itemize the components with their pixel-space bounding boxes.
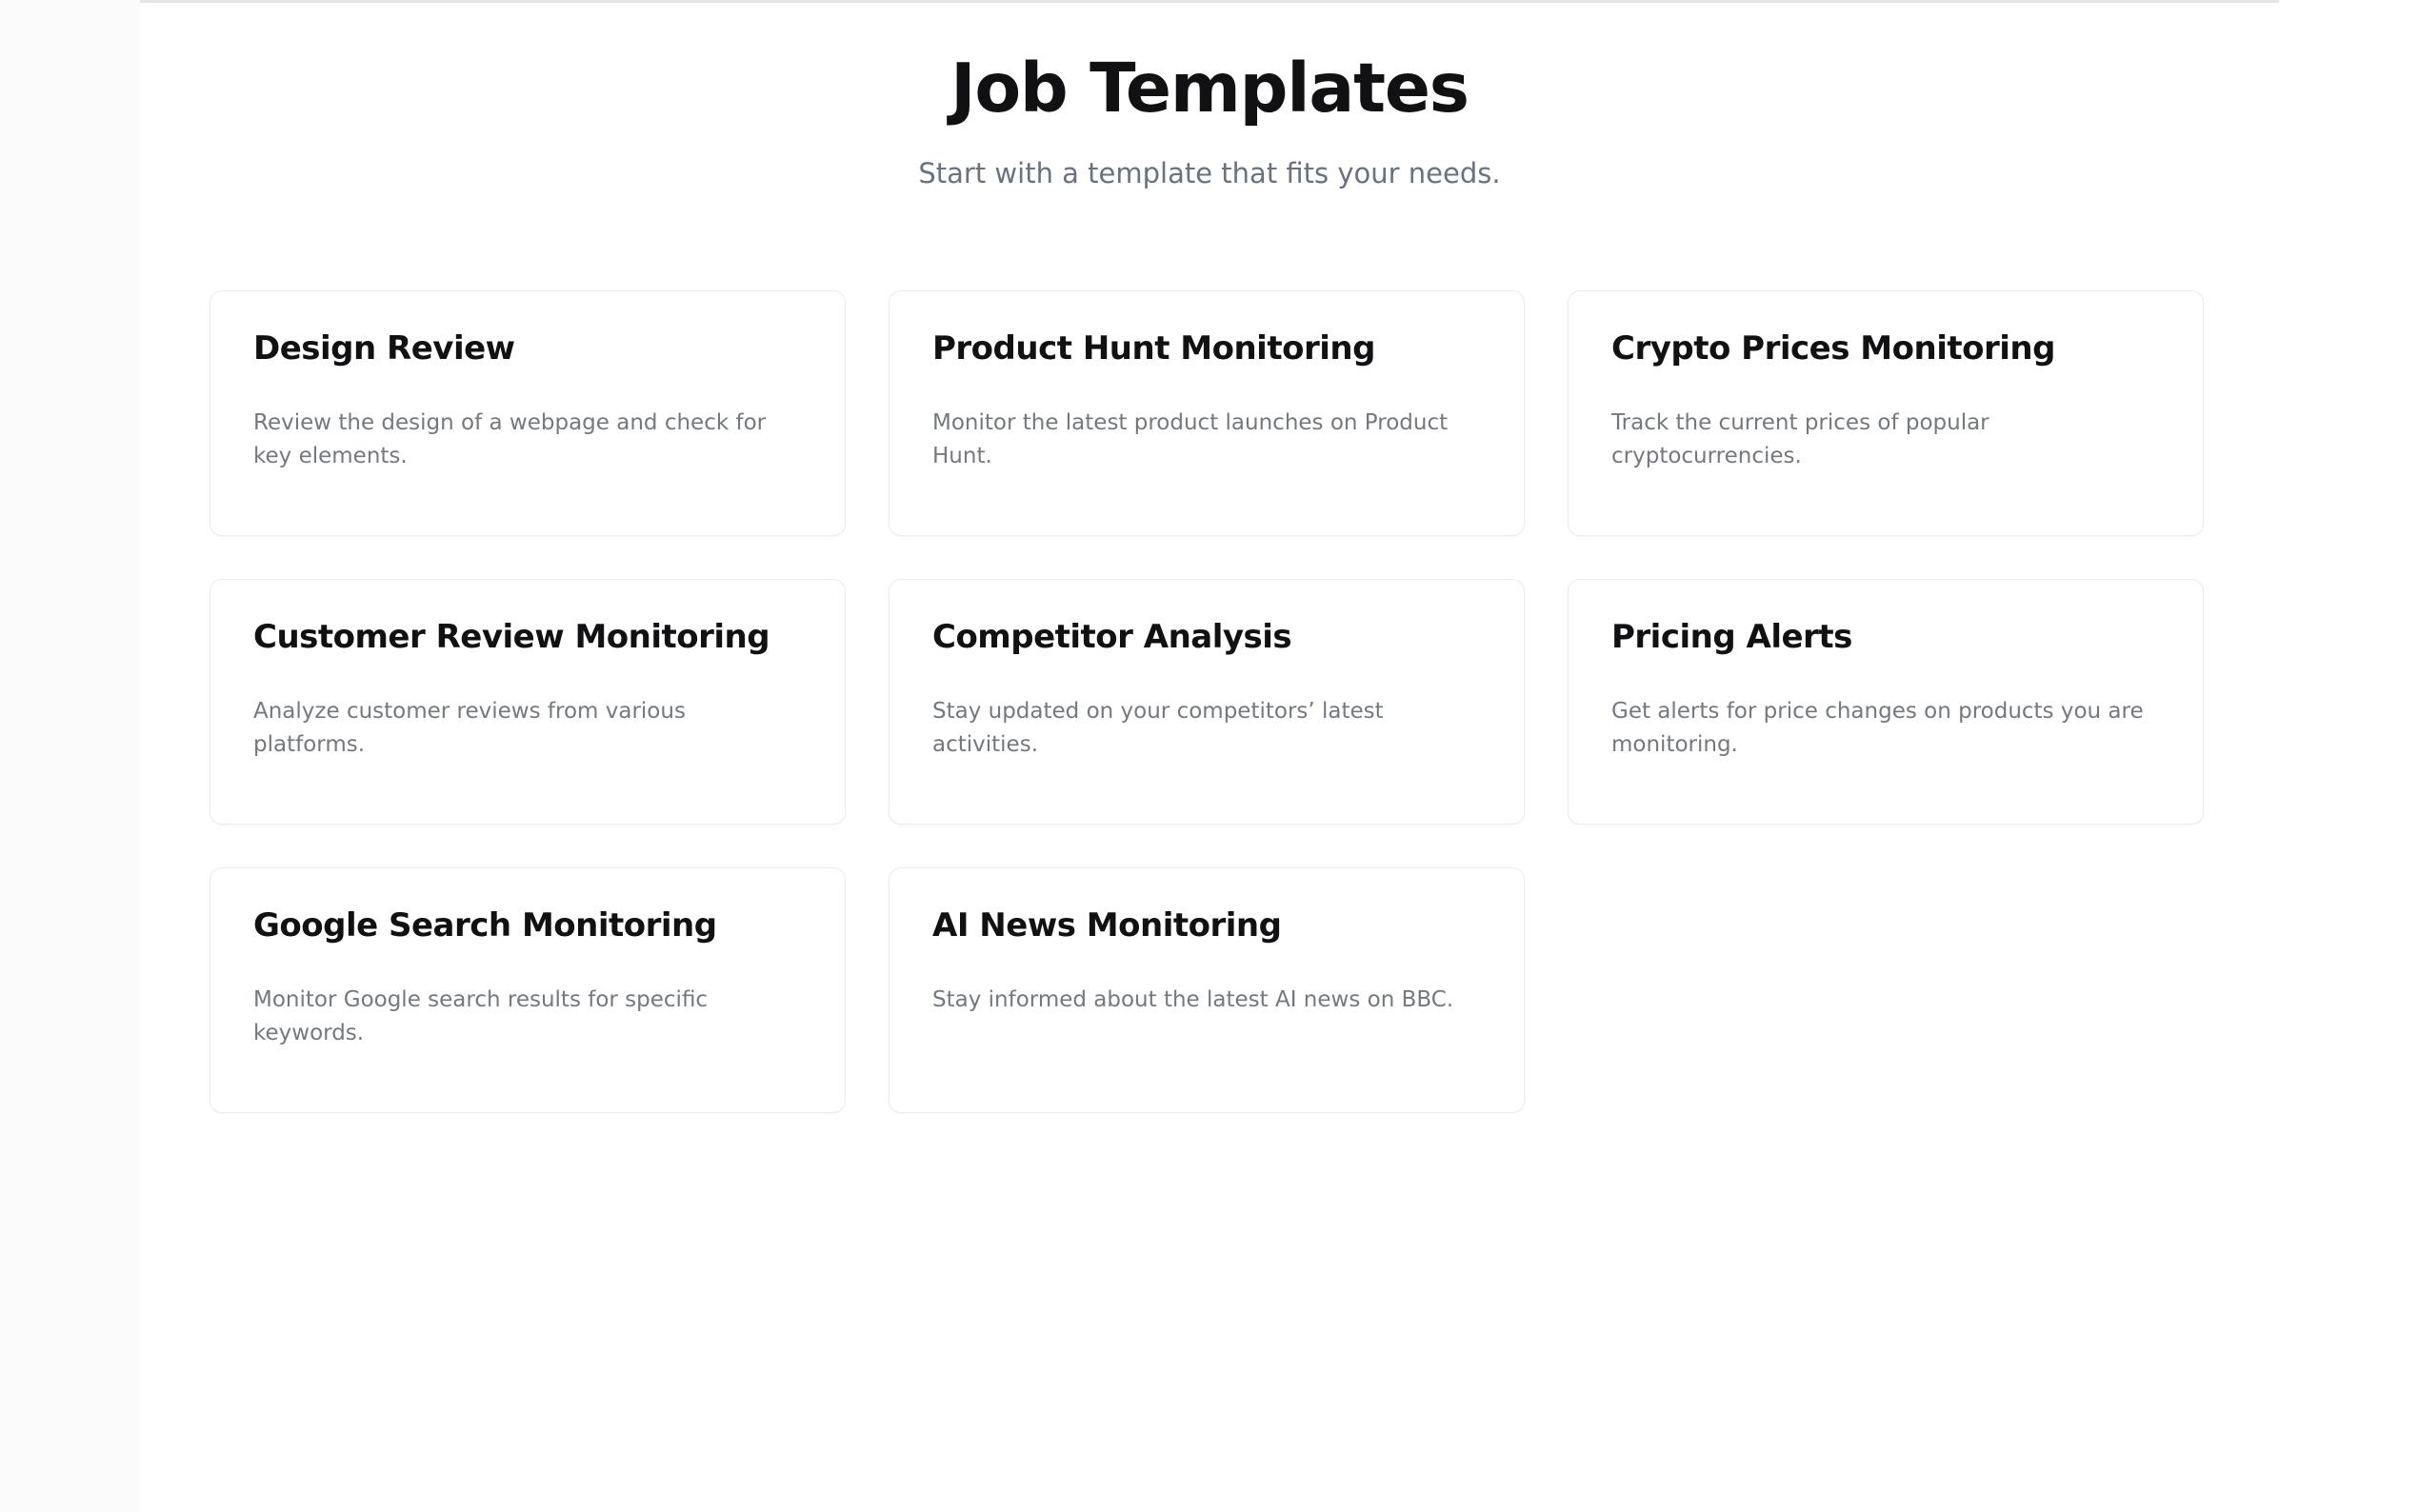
template-card-description: Stay updated on your competitors’ latest… [932, 695, 1475, 762]
page-subtitle: Start with a template that fits your nee… [140, 156, 2279, 192]
template-card-ai-news-monitoring[interactable]: AI News Monitoring Stay informed about t… [889, 867, 1525, 1113]
app-root: Job Templates Start with a template that… [0, 0, 2419, 1512]
template-card-title: Google Search Monitoring [253, 906, 802, 945]
template-card-competitor-analysis[interactable]: Competitor Analysis Stay updated on your… [889, 579, 1525, 825]
template-card-description: Get alerts for price changes on products… [1611, 695, 2154, 762]
template-card-description: Track the current prices of popular cryp… [1611, 407, 2154, 473]
template-card-customer-review-monitoring[interactable]: Customer Review Monitoring Analyze custo… [210, 579, 846, 825]
template-card-description: Analyze customer reviews from various pl… [253, 695, 796, 762]
page-header: Job Templates Start with a template that… [140, 52, 2279, 191]
template-card-title: AI News Monitoring [932, 906, 1481, 945]
template-card-description: Monitor the latest product launches on P… [932, 407, 1475, 473]
right-gutter [2279, 0, 2419, 1512]
page-title: Job Templates [140, 52, 2279, 126]
template-card-title: Pricing Alerts [1611, 618, 2160, 657]
template-card-crypto-prices-monitoring[interactable]: Crypto Prices Monitoring Track the curre… [1568, 290, 2204, 536]
template-card-title: Customer Review Monitoring [253, 618, 802, 657]
template-card-pricing-alerts[interactable]: Pricing Alerts Get alerts for price chan… [1568, 579, 2204, 825]
template-card-google-search-monitoring[interactable]: Google Search Monitoring Monitor Google … [210, 867, 846, 1113]
template-card-title: Product Hunt Monitoring [932, 329, 1481, 368]
template-card-product-hunt-monitoring[interactable]: Product Hunt Monitoring Monitor the late… [889, 290, 1525, 536]
template-card-title: Design Review [253, 329, 802, 368]
template-card-description: Review the design of a webpage and check… [253, 407, 796, 473]
template-card-design-review[interactable]: Design Review Review the design of a web… [210, 290, 846, 536]
template-card-title: Competitor Analysis [932, 618, 1481, 657]
template-card-title: Crypto Prices Monitoring [1611, 329, 2160, 368]
template-card-description: Monitor Google search results for specif… [253, 984, 796, 1050]
main-content-panel: Job Templates Start with a template that… [140, 0, 2279, 1512]
template-card-description: Stay informed about the latest AI news o… [932, 984, 1475, 1017]
job-templates-grid: Design Review Review the design of a web… [210, 290, 2209, 1113]
left-sidebar-rail [0, 0, 140, 1512]
